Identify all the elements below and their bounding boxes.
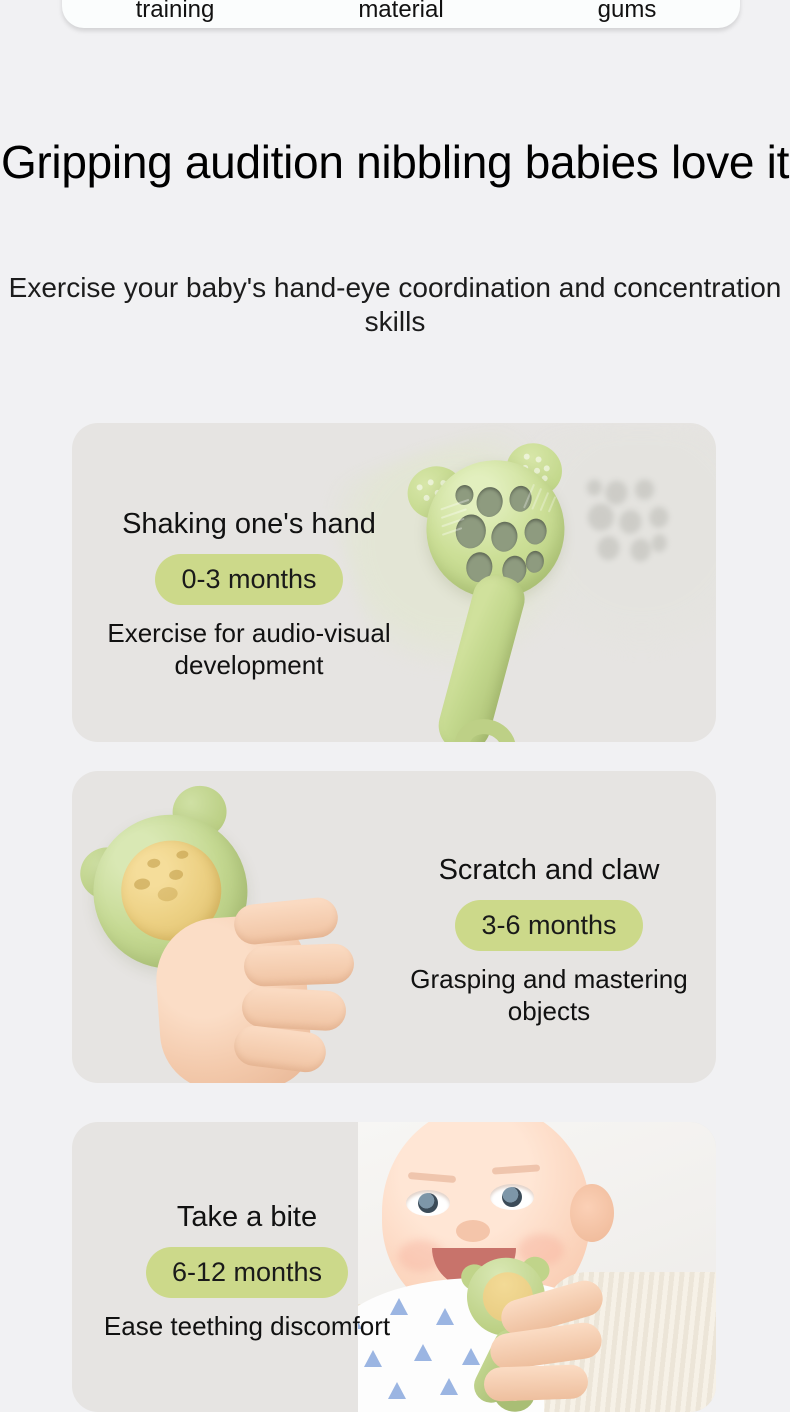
age-badge: 0-3 months bbox=[155, 554, 342, 605]
card-text-block: Take a bite 6-12 months Ease teething di… bbox=[82, 1200, 412, 1342]
top-feature-column-training: training bbox=[62, 0, 288, 28]
card-description: Grasping and mastering objects bbox=[384, 963, 714, 1027]
baby-eye-left-icon bbox=[406, 1190, 450, 1216]
age-badge: 3-6 months bbox=[455, 900, 642, 951]
card-title: Shaking one's hand bbox=[84, 507, 414, 541]
page-subtitle: Exercise your baby's hand-eye coordinati… bbox=[0, 271, 790, 339]
baby-hand-icon bbox=[158, 893, 378, 1083]
top-feature-column-material: material bbox=[288, 0, 514, 28]
age-badge: 6-12 months bbox=[146, 1247, 348, 1298]
card-description: Ease teething discomfort bbox=[82, 1310, 412, 1342]
card-description: Exercise for audio-visual development bbox=[84, 617, 414, 681]
baby-eye-right-icon bbox=[490, 1184, 534, 1210]
rattle-handle-icon bbox=[433, 570, 530, 742]
baby-ear-icon bbox=[570, 1184, 614, 1242]
feature-card-scratch: Scratch and claw 3-6 months Grasping and… bbox=[72, 771, 716, 1083]
top-feature-panel: training material gums bbox=[62, 0, 740, 28]
card-title: Take a bite bbox=[82, 1200, 412, 1234]
top-feature-columns: training material gums bbox=[62, 0, 740, 28]
card-title: Scratch and claw bbox=[384, 853, 714, 887]
green-rattle-icon bbox=[386, 431, 680, 742]
page-title: Gripping audition nibbling babies love i… bbox=[0, 134, 790, 190]
feature-card-bite: Take a bite 6-12 months Ease teething di… bbox=[72, 1122, 716, 1412]
card-text-block: Scratch and claw 3-6 months Grasping and… bbox=[384, 853, 714, 1027]
card-text-block: Shaking one's hand 0-3 months Exercise f… bbox=[84, 507, 414, 681]
feature-card-shaking: Shaking one's hand 0-3 months Exercise f… bbox=[72, 423, 716, 742]
top-feature-column-gums: gums bbox=[514, 0, 740, 28]
